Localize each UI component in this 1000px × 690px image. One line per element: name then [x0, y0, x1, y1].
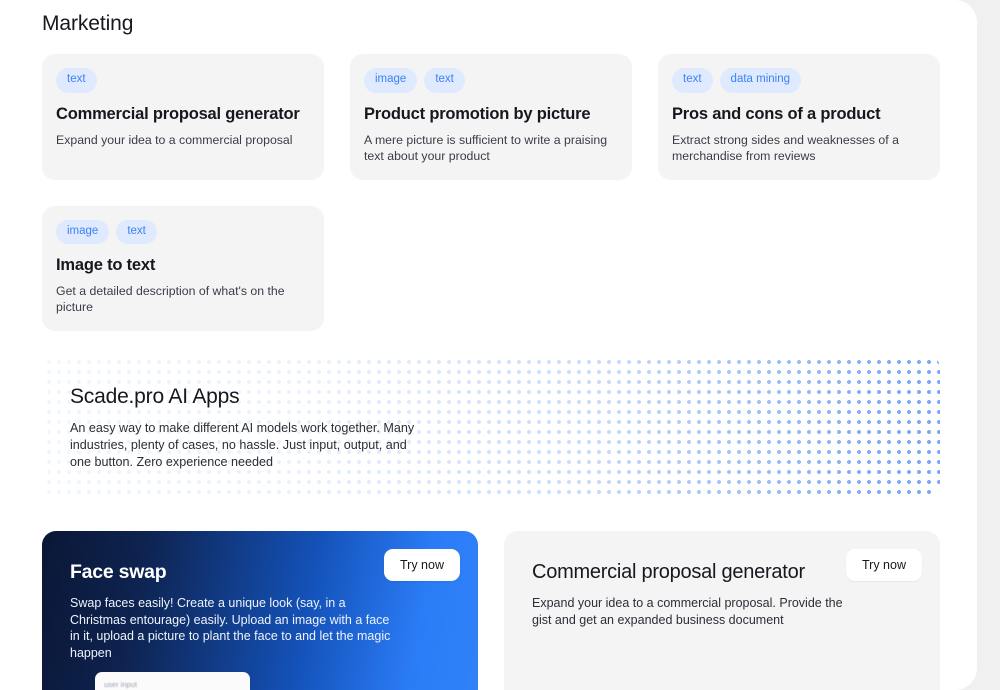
content-panel: Marketing text Commercial proposal gener…	[0, 0, 977, 690]
user-input-label: user input	[104, 680, 137, 689]
feature-card-description: Expand your idea to a commercial proposa…	[532, 595, 862, 628]
app-card-commercial-proposal-generator[interactable]: text Commercial proposal generator Expan…	[42, 54, 324, 180]
tag-chip[interactable]: text	[424, 68, 465, 93]
page-title: Marketing	[42, 10, 133, 38]
user-input-field[interactable]: user input	[95, 672, 250, 690]
app-card-image-to-text[interactable]: image text Image to text Get a detailed …	[42, 206, 324, 332]
app-card-pros-and-cons-of-a-product[interactable]: text data mining Pros and cons of a prod…	[658, 54, 940, 180]
tag-chip[interactable]: text	[56, 68, 97, 93]
tag-chip[interactable]: text	[116, 220, 157, 245]
promo-content: Scade.pro AI Apps An easy way to make di…	[70, 383, 425, 471]
app-card-description: Expand your idea to a commercial proposa…	[56, 132, 310, 148]
app-card-product-promotion-by-picture[interactable]: image text Product promotion by picture …	[350, 54, 632, 180]
app-card-title: Pros and cons of a product	[672, 104, 926, 125]
tag-chip[interactable]: data mining	[720, 68, 801, 93]
content-inner: Marketing text Commercial proposal gener…	[0, 0, 977, 690]
tag-list: text	[56, 68, 310, 93]
try-now-button[interactable]: Try now	[846, 549, 922, 581]
promo-banner: Scade.pro AI Apps An easy way to make di…	[42, 355, 940, 495]
app-card-description: A mere picture is sufficient to write a …	[364, 132, 618, 164]
tag-chip[interactable]: image	[364, 68, 417, 93]
app-card-title: Image to text	[56, 255, 310, 276]
app-card-description: Extract strong sides and weaknesses of a…	[672, 132, 926, 164]
app-root: Marketing text Commercial proposal gener…	[0, 0, 1000, 690]
app-cards-grid: text Commercial proposal generator Expan…	[42, 54, 940, 331]
feature-card-description: Swap faces easily! Create a unique look …	[70, 595, 400, 661]
tag-list: text data mining	[672, 68, 926, 93]
feature-card-face-swap[interactable]: Face swap Swap faces easily! Create a un…	[42, 531, 478, 690]
tag-list: image text	[56, 220, 310, 245]
try-now-button[interactable]: Try now	[384, 549, 460, 581]
feature-card-row: Face swap Swap faces easily! Create a un…	[42, 531, 940, 690]
app-card-title: Commercial proposal generator	[56, 104, 310, 125]
tag-chip[interactable]: image	[56, 220, 109, 245]
app-card-description: Get a detailed description of what's on …	[56, 283, 310, 315]
promo-description: An easy way to make different AI models …	[70, 420, 425, 471]
feature-card-commercial-proposal-generator[interactable]: Commercial proposal generator Expand you…	[504, 531, 940, 690]
tag-chip[interactable]: text	[672, 68, 713, 93]
app-card-title: Product promotion by picture	[364, 104, 618, 125]
promo-title: Scade.pro AI Apps	[70, 383, 425, 411]
tag-list: image text	[364, 68, 618, 93]
